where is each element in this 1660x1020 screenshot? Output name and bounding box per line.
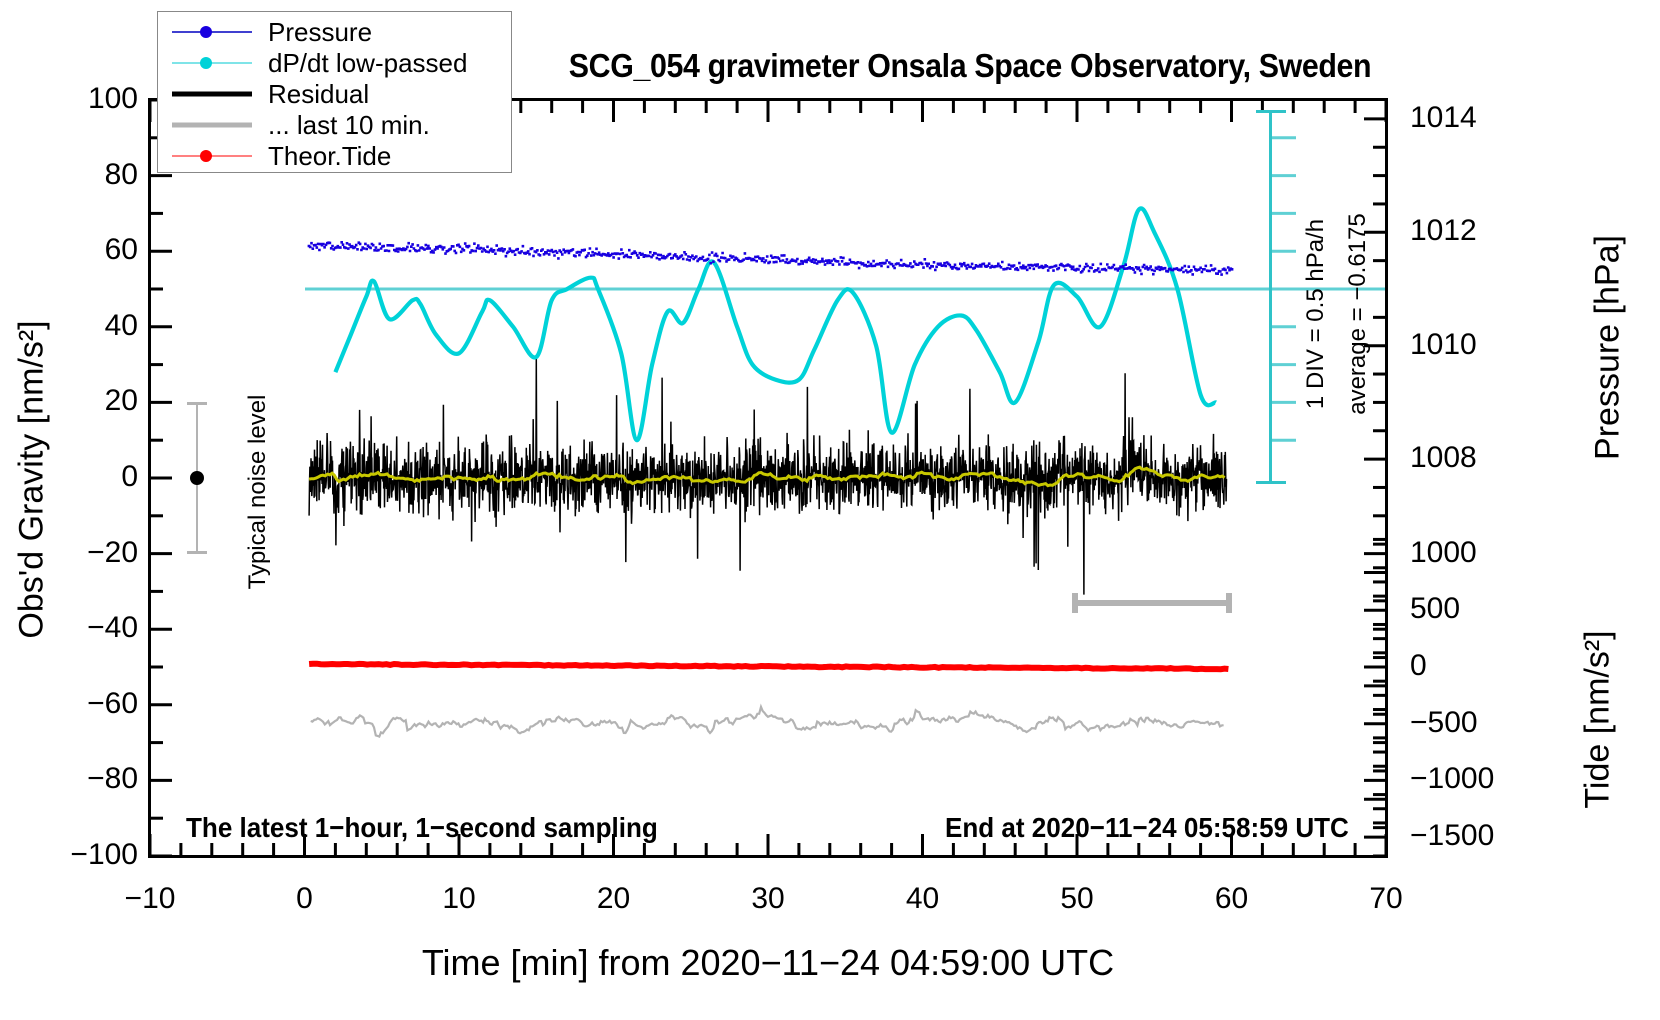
trace-pressure xyxy=(308,241,1234,276)
dpdt-scale-bar xyxy=(1269,110,1272,484)
labels-left-2: 60 xyxy=(0,235,138,265)
labels-pressure-2: 1010 xyxy=(1410,330,1540,360)
legend-label-residual: Residual xyxy=(268,81,369,107)
last-10-min-span-bar xyxy=(1072,600,1232,606)
legend-item-last10: ... last 10 min. xyxy=(158,109,511,140)
note-end-time: End at 2020−11−24 05:58:59 UTC xyxy=(945,812,1349,844)
legend-label-tide: Theor.Tide xyxy=(268,143,391,169)
labels-bottom-5: 40 xyxy=(863,884,983,914)
chart-title: SCG_054 gravimeter Onsala Space Observat… xyxy=(510,47,1430,85)
labels-tide-1: 500 xyxy=(1410,594,1550,624)
typical-noise-level-label: Typical noise level xyxy=(244,372,272,612)
figure-canvas: Pressure dP/dt low-passed Residual ... l… xyxy=(0,0,1660,1020)
dpdt-average-label: average = −0.6175 xyxy=(1344,194,1372,434)
y-axis-tide-title: Tide [nm/s²] xyxy=(1579,520,1618,920)
labels-pressure-1: 1012 xyxy=(1410,216,1540,246)
labels-bottom-8: 70 xyxy=(1326,884,1446,914)
legend-key-pressure xyxy=(172,22,252,42)
note-latest-sampling: The latest 1−hour, 1−second sampling xyxy=(186,812,658,844)
labels-left-1: 80 xyxy=(0,160,138,190)
legend-item-tide: Theor.Tide xyxy=(158,140,511,171)
legend-item-residual: Residual xyxy=(158,78,511,109)
labels-pressure-3: 1008 xyxy=(1410,443,1540,473)
y-axis-pressure-title: Pressure [hPa] xyxy=(1589,138,1628,558)
labels-left-9: −80 xyxy=(0,764,138,794)
labels-pressure-0: 1014 xyxy=(1410,103,1540,133)
labels-left-8: −60 xyxy=(0,689,138,719)
labels-tide-4: −1000 xyxy=(1410,764,1550,794)
labels-left-4: 20 xyxy=(0,386,138,416)
labels-left-5: 0 xyxy=(0,462,138,492)
labels-left-6: −20 xyxy=(0,538,138,568)
labels-left-0: 100 xyxy=(0,84,138,114)
labels-tide-5: −1500 xyxy=(1410,821,1550,851)
dpdt-scale-label: 1 DIV = 0.5 hPa/h xyxy=(1302,194,1330,434)
typical-noise-level-dot xyxy=(190,471,204,485)
trace-dpdt-lowpassed xyxy=(335,208,1216,440)
dpdt-scale-ticks xyxy=(1271,138,1296,440)
legend: Pressure dP/dt low-passed Residual ... l… xyxy=(157,11,512,173)
labels-tide-0: 1000 xyxy=(1410,538,1550,568)
legend-item-dpdt: dP/dt low-passed xyxy=(158,47,511,78)
x-axis-title: Time [min] from 2020−11−24 04:59:00 UTC xyxy=(148,942,1388,984)
legend-label-pressure: Pressure xyxy=(268,19,372,45)
legend-key-dpdt xyxy=(172,53,252,73)
legend-label-dpdt: dP/dt low-passed xyxy=(268,50,467,76)
legend-label-last10: ... last 10 min. xyxy=(268,112,430,138)
labels-bottom-1: 0 xyxy=(245,884,365,914)
labels-bottom-0: −10 xyxy=(90,884,210,914)
labels-left-3: 40 xyxy=(0,311,138,341)
legend-key-residual xyxy=(172,84,252,104)
labels-left-10: −100 xyxy=(0,840,138,870)
labels-left-7: −40 xyxy=(0,613,138,643)
labels-tide-2: 0 xyxy=(1410,651,1550,681)
y-axis-left-ticks xyxy=(150,100,172,856)
labels-bottom-7: 60 xyxy=(1172,884,1292,914)
legend-key-last10 xyxy=(172,115,252,135)
trace-last-10-min xyxy=(311,707,1224,737)
labels-bottom-3: 20 xyxy=(554,884,674,914)
legend-key-tide xyxy=(172,146,252,166)
labels-tide-3: −500 xyxy=(1410,708,1550,738)
labels-bottom-2: 10 xyxy=(399,884,519,914)
labels-bottom-6: 50 xyxy=(1017,884,1137,914)
labels-bottom-4: 30 xyxy=(708,884,828,914)
legend-item-pressure: Pressure xyxy=(158,16,511,47)
trace-theoretical-tide xyxy=(309,664,1228,670)
